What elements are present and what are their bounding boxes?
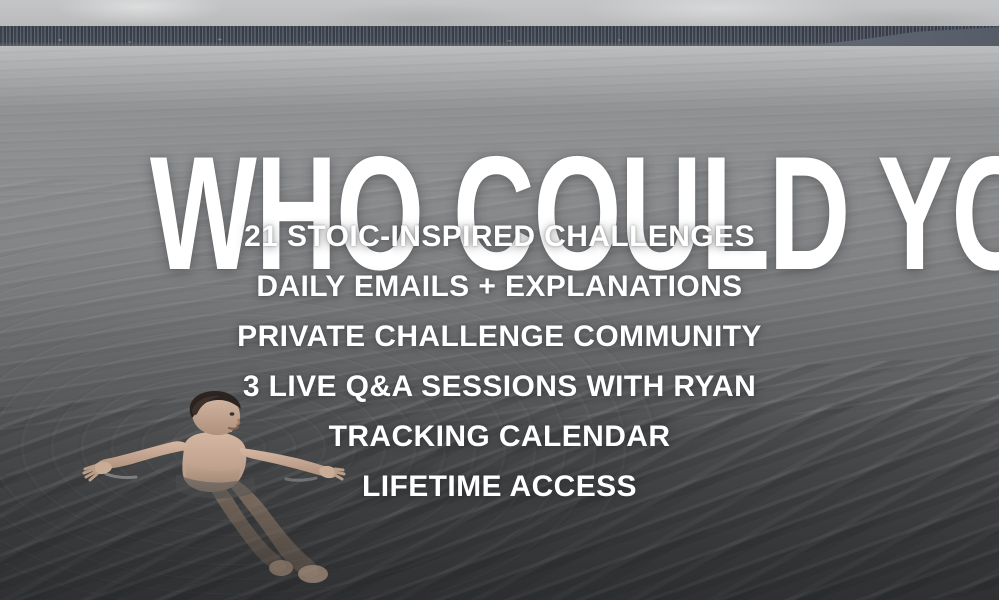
benefit-item: PRIVATE CHALLENGE COMMUNITY <box>0 312 999 362</box>
benefit-item: DAILY EMAILS + EXPLANATIONS <box>0 262 999 312</box>
benefit-item: 3 LIVE Q&A SESSIONS WITH RYAN <box>0 362 999 412</box>
benefits-list: 21 STOIC-INSPIRED CHALLENGES DAILY EMAIL… <box>0 212 999 512</box>
benefit-item: 21 STOIC-INSPIRED CHALLENGES <box>0 212 999 262</box>
overlay-content: WHO COULD YOU BE? 21 STOIC-INSPIRED CHAL… <box>0 0 999 600</box>
benefit-item: LIFETIME ACCESS <box>0 462 999 512</box>
benefit-item: TRACKING CALENDAR <box>0 412 999 462</box>
promo-card: WHO COULD YOU BE? 21 STOIC-INSPIRED CHAL… <box>0 0 999 600</box>
